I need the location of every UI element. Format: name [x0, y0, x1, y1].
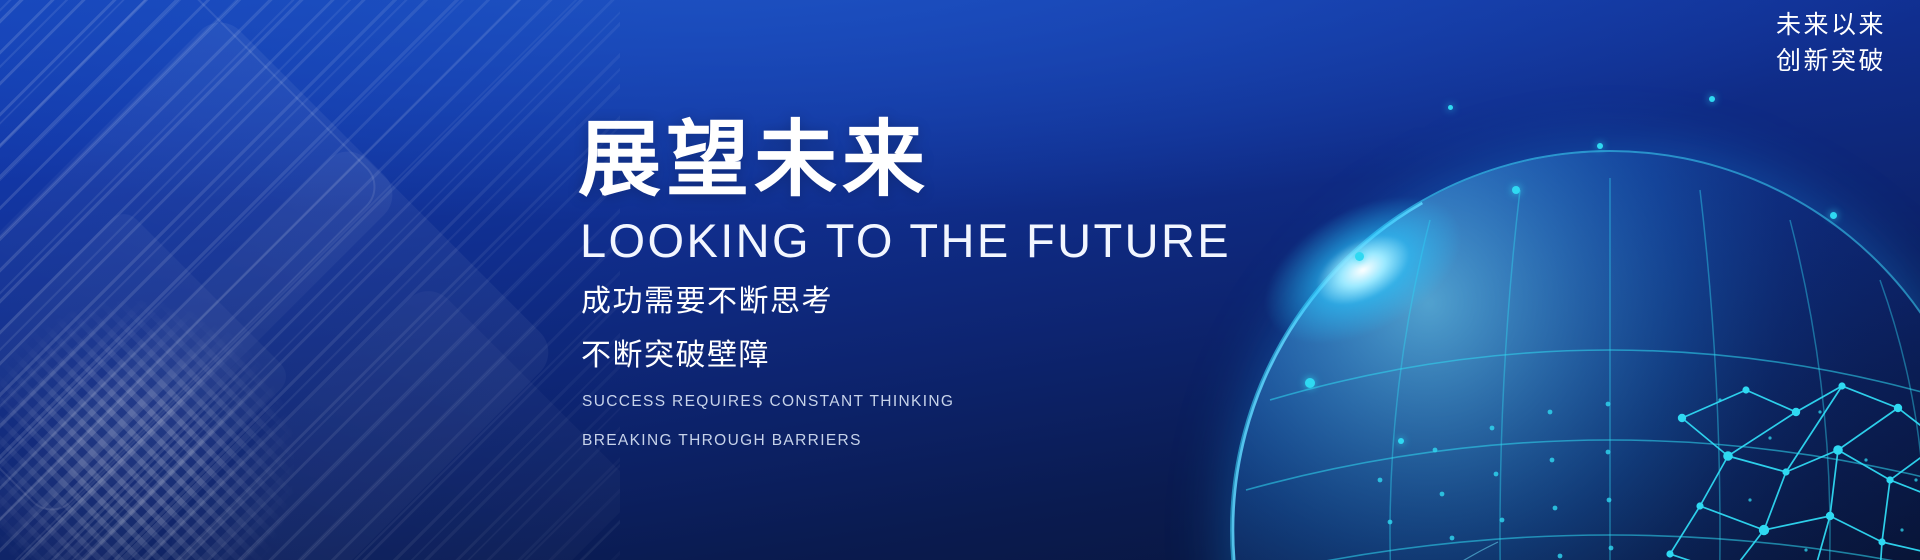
page-title-english: LOOKING TO THE FUTURE: [580, 213, 1338, 268]
decor-plate-3: [0, 207, 293, 560]
decor-plate-2: [0, 140, 560, 560]
decor-dot-grid: [0, 230, 365, 560]
decor-plate-outline: [0, 0, 387, 522]
decor-plate-1: [0, 11, 404, 499]
subtitle-cn-line-2: 不断突破壁障: [581, 336, 1338, 376]
subtitle-en-line-2: BREAKING THROUGH BARRIERS: [582, 427, 1338, 454]
corner-slogan: 未来以来 创新突破: [1776, 8, 1886, 79]
decor-plate-4: [160, 280, 620, 560]
accent-dot: [1512, 186, 1520, 194]
decor-diagonal-lines-thin: [0, 0, 620, 560]
accent-dot: [1448, 105, 1453, 110]
accent-dot: [1355, 252, 1364, 261]
accent-dot: [1597, 143, 1603, 149]
accent-dot: [1398, 438, 1404, 444]
corner-slogan-line-2: 创新突破: [1776, 44, 1886, 80]
page-title: 展望未来: [578, 118, 1338, 203]
decor-diagonal-lines: [0, 0, 620, 560]
subtitle-en-line-1: SUCCESS REQUIRES CONSTANT THINKING: [582, 388, 1338, 415]
headline-block: 展望未来 LOOKING TO THE FUTURE 成功需要不断思考 不断突破…: [578, 118, 1338, 454]
subtitle-cn-line-1: 成功需要不断思考: [581, 282, 1338, 322]
corner-slogan-line-1: 未来以来: [1776, 8, 1886, 44]
hero-banner: 未来以来 创新突破 展望未来 LOOKING TO THE FUTURE 成功需…: [0, 0, 1920, 560]
accent-dot: [1709, 96, 1715, 102]
left-geometric-decoration: [0, 0, 620, 560]
accent-dot: [1830, 212, 1837, 219]
